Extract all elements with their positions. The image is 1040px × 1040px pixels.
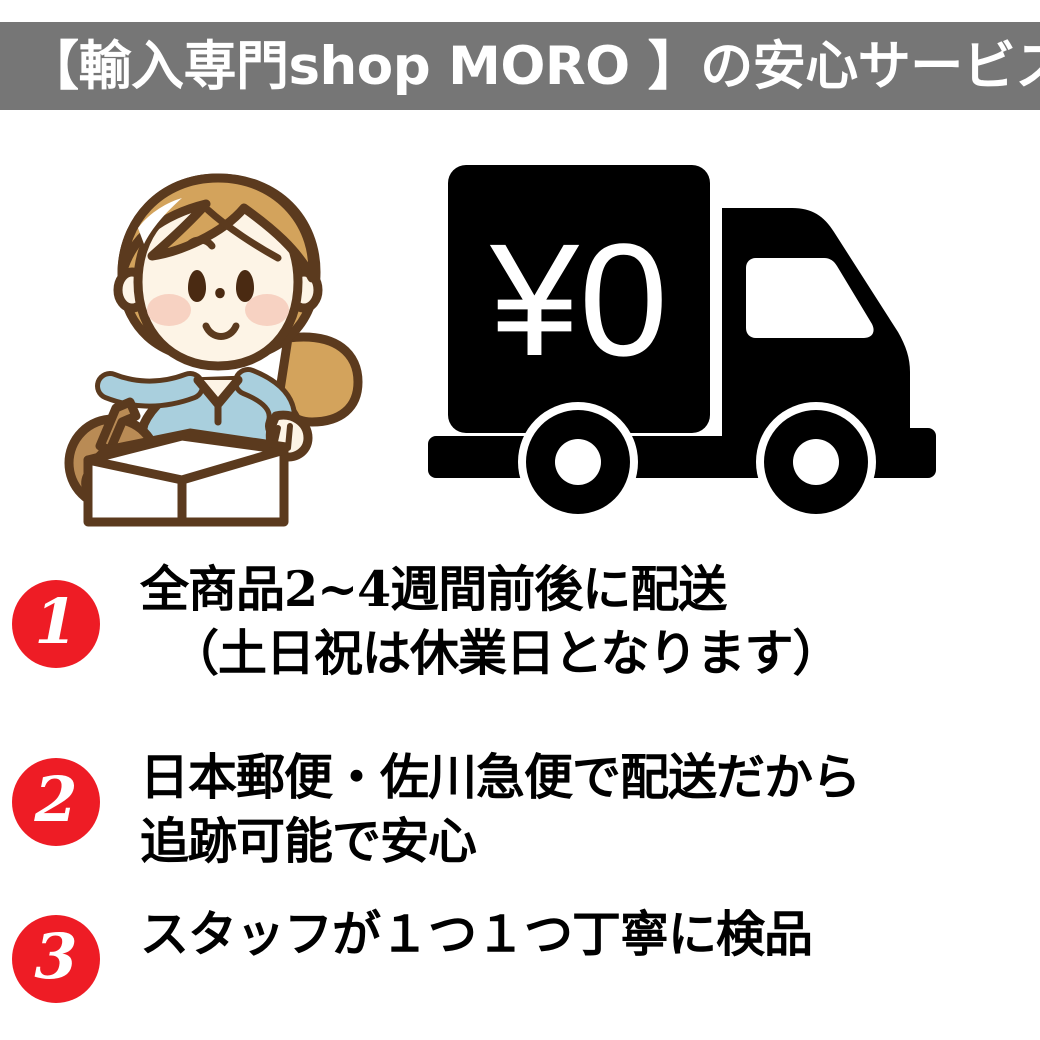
feature-badge-2: 2 xyxy=(12,758,100,846)
feature-badge-number-2: 2 xyxy=(34,769,77,831)
feature-line-2-1: 日本郵便・佐川急便で配送だから xyxy=(140,746,1030,810)
feature-line-1-2: （土日祝は休業日となります） xyxy=(140,622,1030,686)
feature-text-1: 全商品2~4週間前後に配送 （土日祝は休業日となります） xyxy=(140,558,1030,685)
truck-price-label: ¥0 xyxy=(489,210,668,389)
nose xyxy=(215,288,225,298)
cheek-left xyxy=(147,294,191,326)
header-banner: 【輸入専門shop MORO 】の安心サービス xyxy=(0,22,1040,110)
feature-line-3-1: スタッフが１つ１つ丁寧に検品 xyxy=(140,903,1030,967)
cheek-right xyxy=(245,294,289,326)
truck-wheel-rear-hub xyxy=(555,439,601,485)
feature-line-2-2: 追跡可能で安心 xyxy=(140,810,1030,874)
truck-icon: ¥0 xyxy=(420,140,1040,530)
feature-text-3: スタッフが１つ１つ丁寧に検品 xyxy=(140,903,1030,967)
feature-list: 1 全商品2~4週間前後に配送 （土日祝は休業日となります） 2 日本郵便・佐川… xyxy=(0,548,1040,1040)
truck-bumper xyxy=(876,428,936,478)
header-title: 【輸入専門shop MORO 】の安心サービス xyxy=(26,40,1040,93)
feature-text-2: 日本郵便・佐川急便で配送だから 追跡可能で安心 xyxy=(140,746,1030,873)
feature-badge-number-1: 1 xyxy=(34,591,77,653)
staff-packing-illustration xyxy=(40,150,420,530)
feature-line-1-1: 全商品2~4週間前後に配送 xyxy=(140,558,1030,622)
feature-badge-1: 1 xyxy=(12,580,100,668)
truck-wheel-front-hub xyxy=(793,439,839,485)
feature-badge-number-3: 3 xyxy=(34,926,77,988)
staff-illustration-svg xyxy=(40,150,420,530)
promo-banner-page: 【輸入専門shop MORO 】の安心サービス xyxy=(0,0,1040,1040)
feature-badge-3: 3 xyxy=(12,915,100,1003)
free-shipping-truck: ¥0 xyxy=(420,140,1040,530)
